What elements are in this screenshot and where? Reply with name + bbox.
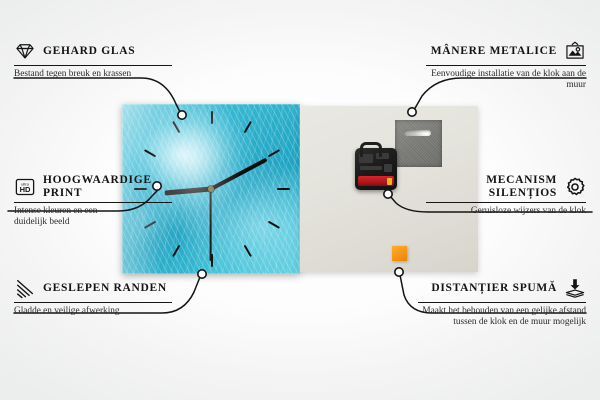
callout-title: DISTANȚIER SPUMĂ xyxy=(418,282,557,295)
callout-subtitle: Gladde en veilige afwerking xyxy=(14,306,166,317)
ultra-hd-icon: ultra HD xyxy=(14,176,36,198)
callout-rule xyxy=(426,202,586,203)
clock-tick xyxy=(172,121,180,133)
clock-tick xyxy=(211,111,213,124)
battery-terminal xyxy=(387,178,392,185)
callout-subtitle: Bestand tegen breuk en krassen xyxy=(14,69,134,80)
spacer-arrow-icon xyxy=(564,277,586,299)
diamond-icon xyxy=(14,40,36,62)
clock-tick xyxy=(277,188,290,190)
hanger-keyhole-slot xyxy=(404,130,431,136)
callout-title: GESLEPEN RANDEN xyxy=(43,282,167,295)
callout-header: GESLEPEN RANDEN xyxy=(14,277,174,299)
callout-geslepen-randen[interactable]: GESLEPEN RANDEN Gladde en veilige afwerk… xyxy=(14,277,174,317)
callout-header: MECANISM SILENȚIOS xyxy=(426,174,586,199)
callout-distantier-spuma[interactable]: DISTANȚIER SPUMĂ Maakt het behouden van … xyxy=(418,277,586,328)
clock-minute-hand xyxy=(210,158,268,191)
callout-title: MÂNERE METALICE xyxy=(426,45,557,58)
clock-tick xyxy=(144,149,156,157)
mechanism-detail xyxy=(360,166,382,170)
callout-header: GEHARD GLAS xyxy=(14,40,174,62)
callout-subtitle: Intense kleuren en een duidelijk beeld xyxy=(14,206,132,228)
callout-title: MECANISM SILENȚIOS xyxy=(426,174,557,199)
gear-icon xyxy=(564,176,586,198)
mechanism-hanging-loop xyxy=(360,142,382,157)
callout-rule xyxy=(426,65,586,66)
clock-second-hand xyxy=(210,189,212,261)
clock-battery xyxy=(358,176,394,186)
bevelled-edges-icon xyxy=(14,277,36,299)
callout-rule xyxy=(418,302,586,303)
callout-gehard-glas[interactable]: GEHARD GLAS Bestand tegen breuk en krass… xyxy=(14,40,174,80)
callout-manere-metalice[interactable]: MÂNERE METALICE Eenvoudige installatie v… xyxy=(426,40,586,91)
callout-subtitle: Maakt het behouden van een gelijke afsta… xyxy=(418,306,586,328)
callout-header: ultra HD HOOGWAARDIGE PRINT xyxy=(14,174,174,199)
infographic-canvas: GEHARD GLAS Bestand tegen breuk en krass… xyxy=(0,0,600,400)
svg-text:HD: HD xyxy=(20,185,31,194)
callout-rule xyxy=(14,65,172,66)
clock-tick xyxy=(172,245,180,257)
callout-mecanism-silentios[interactable]: MECANISM SILENȚIOS Geruisloze wijzers va… xyxy=(426,174,586,217)
clock-tick xyxy=(211,254,213,267)
callout-title: HOOGWAARDIGE PRINT xyxy=(43,174,174,199)
callout-header: MÂNERE METALICE xyxy=(426,40,586,62)
callout-subtitle: Geruisloze wijzers van de klok xyxy=(426,206,586,217)
picture-hanger-icon xyxy=(564,40,586,62)
metal-hanger-plate xyxy=(395,120,442,167)
callout-rule xyxy=(14,302,172,303)
foam-spacer xyxy=(392,246,407,261)
callout-header: DISTANȚIER SPUMĂ xyxy=(418,277,586,299)
callout-title: GEHARD GLAS xyxy=(43,45,135,58)
callout-subtitle: Eenvoudige installatie van de klok aan d… xyxy=(426,69,586,91)
callout-rule xyxy=(14,202,172,203)
clock-tick xyxy=(268,221,280,229)
clock-tick xyxy=(244,245,252,257)
mechanism-detail xyxy=(384,164,392,172)
clock-center-pivot xyxy=(208,186,214,192)
callout-hoogwaardige-print[interactable]: ultra HD HOOGWAARDIGE PRINT Intense kleu… xyxy=(14,174,174,228)
clock-tick xyxy=(244,121,252,133)
clock-tick xyxy=(268,149,280,157)
